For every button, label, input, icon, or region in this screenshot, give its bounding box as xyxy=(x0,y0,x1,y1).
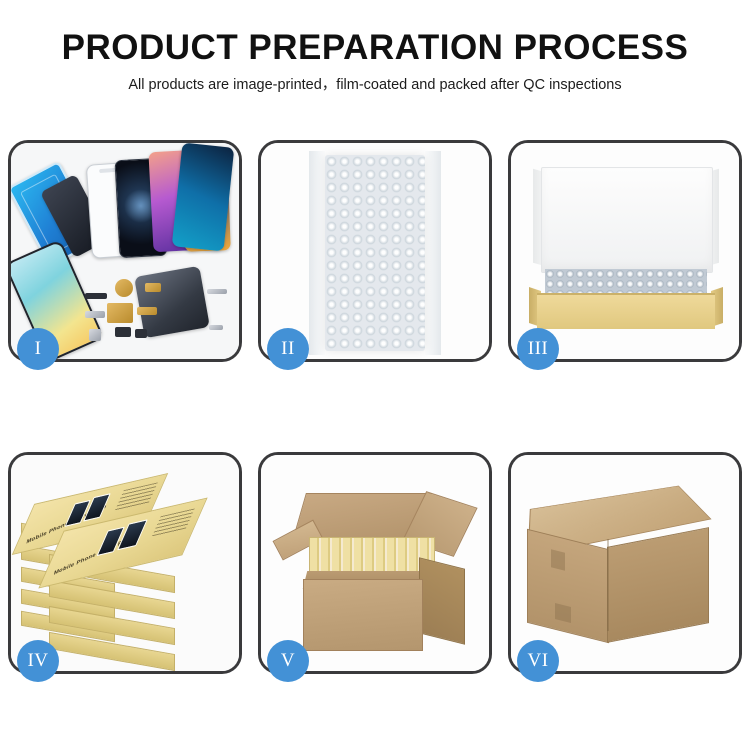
step-badge-5: V xyxy=(267,640,309,682)
bubble-wrap-edge-left xyxy=(309,151,325,355)
step-image-4: Mobile Phone Spare Parts Mobile Phone Sp… xyxy=(11,455,239,671)
carton-body-side xyxy=(419,557,465,644)
step-badge-6: VI xyxy=(517,640,559,682)
part-screw-set xyxy=(209,325,223,330)
phone-teal-gradient xyxy=(172,143,235,251)
step-panel-5: V xyxy=(258,452,492,674)
carton-body-front xyxy=(303,579,423,651)
box-phone-image-front-2 xyxy=(117,519,148,550)
part-antenna xyxy=(207,289,227,294)
carton-right-face xyxy=(607,527,709,643)
process-steps-grid: I II III xyxy=(8,140,742,674)
step-panel-4: Mobile Phone Spare Parts Mobile Phone Sp… xyxy=(8,452,242,674)
box-front-panel xyxy=(537,293,715,329)
carton-tape-mark-upper xyxy=(551,549,565,570)
page-title: PRODUCT PREPARATION PROCESS xyxy=(0,30,750,67)
step-panel-2: II xyxy=(258,140,492,362)
part-speaker xyxy=(85,293,107,299)
box-spec-lines-back xyxy=(114,482,158,512)
step-badge-3: III xyxy=(517,328,559,370)
part-logic-board xyxy=(107,303,133,323)
sealed-carton-scene xyxy=(511,455,739,671)
step-panel-6: VI xyxy=(508,452,742,674)
part-button xyxy=(89,329,101,341)
phone-back-housing xyxy=(134,266,210,339)
part-flex-cable xyxy=(85,311,105,318)
carton-left-face xyxy=(527,529,609,643)
step-panel-3: III xyxy=(508,140,742,362)
part-bracket xyxy=(145,283,161,292)
box-spec-lines-front xyxy=(151,508,195,538)
retail-box-stack-scene: Mobile Phone Spare Parts Mobile Phone Sp… xyxy=(11,455,239,671)
step-image-1 xyxy=(11,143,239,359)
step-image-2 xyxy=(261,143,489,359)
part-connector xyxy=(137,307,157,315)
step-image-3 xyxy=(511,143,739,359)
part-camera-ring xyxy=(115,279,133,297)
bubble-wrap-edge-right xyxy=(425,151,441,355)
step-badge-2: II xyxy=(267,328,309,370)
part-taptic xyxy=(115,327,131,337)
carton-filling-scene xyxy=(261,455,489,671)
page-header: PRODUCT PREPARATION PROCESS All products… xyxy=(0,0,750,94)
step-badge-4: IV xyxy=(17,640,59,682)
inner-box-scene xyxy=(511,143,739,359)
bubble-wrap-scene xyxy=(261,143,489,359)
step-panel-1: I xyxy=(8,140,242,362)
products-scene xyxy=(11,143,239,359)
page-subtitle: All products are image-printed，film-coat… xyxy=(0,78,750,94)
box-inner-lid xyxy=(541,167,713,273)
part-bezel xyxy=(135,329,147,338)
bubble-wrap-sheet xyxy=(325,155,425,351)
step-image-5 xyxy=(261,455,489,671)
carton-vertical-edge xyxy=(607,539,609,631)
bubble-wrapped-contents xyxy=(545,269,707,293)
step-badge-1: I xyxy=(17,328,59,370)
step-image-6 xyxy=(511,455,739,671)
